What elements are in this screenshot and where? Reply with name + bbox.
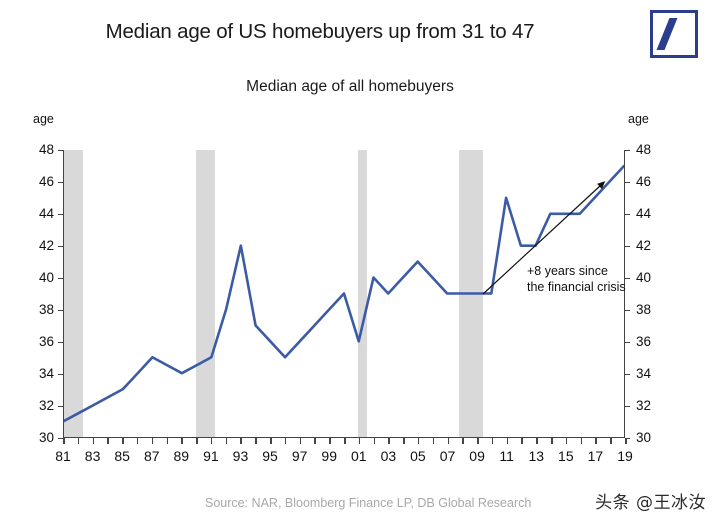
y-axis-tick-label: 40 <box>636 271 651 285</box>
y-axis-tick-label: 30 <box>636 431 651 445</box>
x-axis-tick-mark <box>403 438 405 444</box>
x-axis-tick-mark <box>595 438 597 444</box>
x-axis-tick-label: 97 <box>292 448 308 464</box>
watermark: 头条 @王冰汝 <box>595 488 706 513</box>
x-axis-tick-label: 19 <box>617 448 633 464</box>
x-axis-tick-mark <box>507 438 509 444</box>
y-axis-tick-mark <box>58 374 63 376</box>
y-axis-tick-mark <box>58 150 63 152</box>
x-axis-tick-mark <box>137 438 139 444</box>
x-axis-tick-mark <box>344 438 346 444</box>
x-axis-tick-mark <box>285 438 287 444</box>
y-axis-tick-label: 34 <box>636 367 651 381</box>
y-axis-tick-mark <box>625 406 630 408</box>
x-axis-tick-mark <box>418 438 420 444</box>
y-axis-tick-label: 32 <box>636 399 651 413</box>
x-axis-tick-mark <box>240 438 242 444</box>
x-axis-tick-mark <box>122 438 124 444</box>
y-axis-tick-label: 42 <box>39 239 54 253</box>
x-axis-tick-mark <box>270 438 272 444</box>
x-axis-tick-mark <box>329 438 331 444</box>
x-axis-tick-mark <box>63 438 65 444</box>
x-axis-tick-mark <box>93 438 95 444</box>
x-axis-tick-mark <box>314 438 316 444</box>
x-axis-tick-label: 89 <box>174 448 190 464</box>
y-axis-tick-mark <box>625 278 630 280</box>
x-axis-tick-mark <box>492 438 494 444</box>
y-axis-tick-label: 48 <box>636 143 651 157</box>
x-axis-tick-label: 93 <box>233 448 249 464</box>
x-axis-tick-mark <box>300 438 302 444</box>
y-axis-tick-mark <box>625 182 630 184</box>
x-axis-tick-mark <box>374 438 376 444</box>
x-axis-tick-mark <box>536 438 538 444</box>
page-title: Median age of US homebuyers up from 31 t… <box>0 20 640 44</box>
x-axis-tick-label: 17 <box>588 448 604 464</box>
x-axis-tick-label: 87 <box>144 448 160 464</box>
y-axis-tick-label: 34 <box>39 367 54 381</box>
y-axis-tick-label: 44 <box>636 207 651 221</box>
y-axis-tick-mark <box>58 310 63 312</box>
y-axis-tick-label: 36 <box>39 335 54 349</box>
y-axis-unit-right: age <box>628 112 649 126</box>
y-axis-tick-mark <box>58 246 63 248</box>
x-axis-tick-mark <box>566 438 568 444</box>
x-axis-tick-mark <box>581 438 583 444</box>
x-axis-tick-mark <box>255 438 257 444</box>
x-axis-tick-label: 91 <box>203 448 219 464</box>
y-axis-tick-mark <box>58 406 63 408</box>
y-axis-tick-mark <box>625 310 630 312</box>
x-axis-tick-mark <box>625 438 627 444</box>
x-axis-tick-mark <box>521 438 523 444</box>
deutsche-bank-logo <box>650 10 698 58</box>
logo-slash-icon <box>657 18 678 50</box>
y-axis-tick-mark <box>58 214 63 216</box>
y-axis-tick-mark <box>625 374 630 376</box>
x-axis-tick-mark <box>477 438 479 444</box>
x-axis-tick-mark <box>551 438 553 444</box>
x-axis-tick-label: 83 <box>85 448 101 464</box>
x-axis-tick-mark <box>226 438 228 444</box>
x-axis-tick-mark <box>388 438 390 444</box>
x-axis-tick-label: 81 <box>55 448 71 464</box>
y-axis-tick-label: 36 <box>636 335 651 349</box>
x-axis-tick-mark <box>152 438 154 444</box>
y-axis-tick-label: 44 <box>39 207 54 221</box>
y-axis-tick-label: 40 <box>39 271 54 285</box>
y-axis-tick-label: 38 <box>39 303 54 317</box>
x-axis-tick-label: 15 <box>558 448 574 464</box>
y-axis-tick-label: 46 <box>636 175 651 189</box>
y-axis-tick-label: 48 <box>39 143 54 157</box>
x-axis-tick-mark <box>167 438 169 444</box>
x-axis-tick-label: 11 <box>499 448 514 464</box>
x-axis-tick-label: 05 <box>410 448 426 464</box>
chart-subtitle: Median age of all homebuyers <box>0 78 700 96</box>
x-axis-tick-label: 85 <box>114 448 130 464</box>
x-axis-tick-label: 99 <box>321 448 337 464</box>
annotation-label: +8 years since the financial crisis <box>527 263 626 295</box>
y-axis-tick-label: 42 <box>636 239 651 253</box>
source-note: Source: NAR, Bloomberg Finance LP, DB Gl… <box>205 496 531 510</box>
y-axis-tick-mark <box>625 214 630 216</box>
y-axis-tick-mark <box>625 150 630 152</box>
y-axis-tick-label: 38 <box>636 303 651 317</box>
x-axis-tick-mark <box>181 438 183 444</box>
y-axis-tick-mark <box>58 342 63 344</box>
y-axis-tick-mark <box>625 246 630 248</box>
x-axis-tick-mark <box>78 438 80 444</box>
x-axis-tick-mark <box>196 438 198 444</box>
x-axis-tick-mark <box>211 438 213 444</box>
x-axis-tick-mark <box>448 438 450 444</box>
x-axis-tick-label: 03 <box>381 448 397 464</box>
x-axis-tick-mark <box>610 438 612 444</box>
y-axis-tick-label: 30 <box>39 431 54 445</box>
x-axis-tick-label: 07 <box>440 448 456 464</box>
y-axis-tick-mark <box>58 182 63 184</box>
chart-header: Median age of US homebuyers up from 31 t… <box>0 0 716 72</box>
x-axis-tick-label: 09 <box>469 448 485 464</box>
y-axis-tick-label: 46 <box>39 175 54 189</box>
x-axis-tick-mark <box>433 438 435 444</box>
y-axis-tick-mark <box>625 342 630 344</box>
x-axis-tick-mark <box>462 438 464 444</box>
y-axis-tick-label: 32 <box>39 399 54 413</box>
x-axis-tick-mark <box>359 438 361 444</box>
x-axis-tick-mark <box>107 438 109 444</box>
y-axis-tick-mark <box>58 278 63 280</box>
x-axis-tick-label: 13 <box>528 448 544 464</box>
x-axis-tick-label: 01 <box>351 448 367 464</box>
y-axis-unit-left: age <box>33 112 54 126</box>
x-axis-tick-label: 95 <box>262 448 278 464</box>
